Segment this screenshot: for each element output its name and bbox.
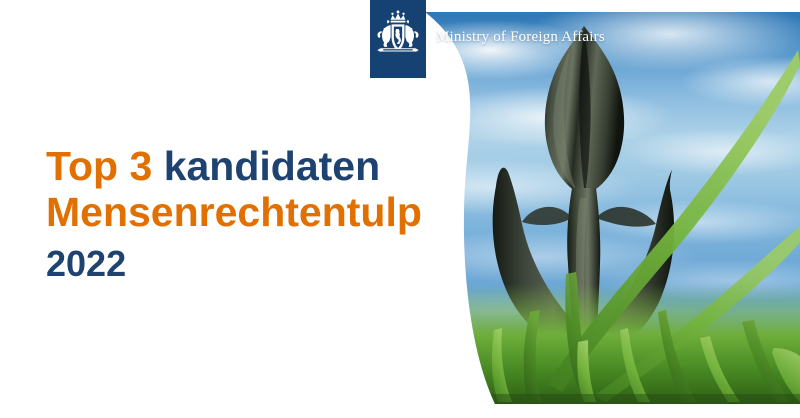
government-logo-block (370, 0, 426, 78)
dutch-coat-of-arms-icon (370, 0, 426, 78)
ministry-name-label: Ministry of Foreign Affairs (436, 29, 605, 46)
mensenrechtentulp-banner: Ministry of Foreign Affairs Top 3 kandid… (0, 0, 800, 418)
headline-line-1: Top 3 kandidaten (46, 146, 456, 188)
headline-year: 2022 (46, 246, 456, 283)
headline-kandidaten (152, 143, 163, 189)
headline-line-2: Mensenrechtentulp (46, 192, 456, 234)
headline-block: Top 3 kandidaten Mensenrechtentulp 2022 (46, 146, 456, 282)
headline-top3-accent: Top 3 (46, 143, 152, 189)
headline-kandidaten-text: kandidaten (164, 143, 380, 189)
